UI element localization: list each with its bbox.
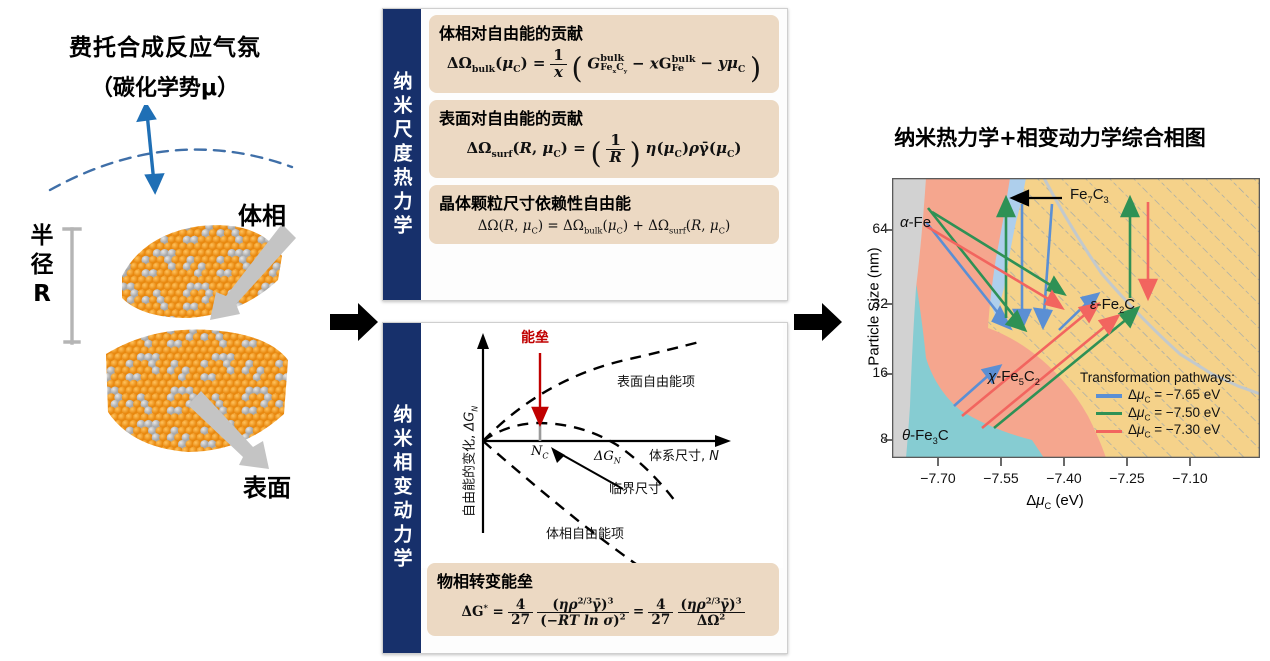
- size-dependent-free-energy-equation: ΔΩ(R, μC) = ΔΩbulk(μC) + ΔΩsurf(R, μC): [439, 216, 769, 236]
- phase-diagram-x-axis-label: ΔμC (eV): [890, 492, 1220, 511]
- radius-label: 半 径 R: [20, 222, 64, 309]
- x-tick-5: −7.10: [1162, 470, 1218, 486]
- size-dependent-free-energy-box: 晶体颗粒尺寸依赖性自由能 ΔΩ(R, μC) = ΔΩbulk(μC) + ΔΩ…: [429, 185, 779, 244]
- sketch-x-axis-label: 体系尺寸, N: [649, 445, 719, 464]
- region-label-chi-fe5c2: χ-Fe5C2: [988, 368, 1040, 387]
- x-tick-marks: [892, 458, 1260, 466]
- radius-label-line1: 半: [31, 223, 54, 249]
- legend-label-730: ΔμC = −7.30 eV: [1128, 422, 1220, 440]
- y-tick-marks: [884, 178, 892, 458]
- phase-transition-kinetics-card: 纳米相变动力学: [382, 322, 788, 654]
- legend-label-765: ΔμC = −7.65 eV: [1128, 387, 1220, 405]
- transformation-barrier-equation: ΔG* = 427 (ηρ2/3γ̄)3 (−RT ln σ)2 = 427 (…: [437, 594, 769, 628]
- size-dependent-free-energy-heading: 晶体颗粒尺寸依赖性自由能: [439, 190, 769, 214]
- nanoscale-thermodynamics-card: 纳米尺度热力学 体相对自由能的贡献 ΔΩbulk(μC) = 1x ( Gbul…: [382, 8, 788, 301]
- legend-item-750: ΔμC = −7.50 eV: [1096, 405, 1235, 423]
- flow-arrow-2-icon: [792, 300, 844, 344]
- atmosphere-title-line1: 费托合成反应气氛: [0, 28, 330, 62]
- thermo-sidebar-title: 纳米尺度热力学: [389, 71, 416, 239]
- bulk-contribution-heading: 体相对自由能的贡献: [439, 20, 769, 44]
- region-label-epsilon-fe2c: ε-Fe2C: [1090, 296, 1135, 315]
- phase-diagram-title: 纳米热力学+相变动力学综合相图: [840, 122, 1260, 152]
- bulk-term-label: 体相自由能项: [546, 523, 624, 542]
- kinetics-sidebar-title: 纳米相变动力学: [389, 404, 416, 572]
- x-tick-4: −7.25: [1099, 470, 1155, 486]
- radius-bracket-icon: [62, 226, 82, 346]
- surface-contribution-box: 表面对自由能的贡献 ΔΩsurf(R, μC) = ( 1R ) η(μC)ργ…: [429, 100, 779, 178]
- legend-swatch-750-icon: [1096, 412, 1122, 415]
- phase-diagram-panel: 纳米热力学+相变动力学综合相图 Particle Size (nm) 64 32…: [840, 110, 1270, 550]
- surface-pointer-arrow-icon: [183, 385, 293, 475]
- pathway-legend: Transformation pathways: ΔμC = −7.65 eV …: [1080, 370, 1235, 440]
- radius-label-line3: R: [33, 281, 51, 307]
- bulk-label: 体相: [238, 196, 286, 231]
- region-label-alpha-fe: α-Fe: [900, 214, 931, 231]
- chemical-potential-arc-icon: [46, 105, 296, 195]
- surface-term-label: 表面自由能项: [617, 371, 695, 390]
- legend-swatch-730-icon: [1096, 430, 1122, 433]
- legend-swatch-765-icon: [1096, 394, 1122, 397]
- surface-contribution-heading: 表面对自由能的贡献: [439, 105, 769, 129]
- surface-label: 表面: [243, 468, 291, 503]
- atmosphere-title-line2: （碳化学势μ）: [0, 70, 330, 102]
- region-label-theta-fe3c: θ-Fe3C: [902, 427, 949, 446]
- bulk-contribution-box: 体相对自由能的贡献 ΔΩbulk(μC) = 1x ( GbulkFexCy −…: [429, 15, 779, 93]
- kinetics-sidebar: 纳米相变动力学: [383, 323, 421, 653]
- energy-barrier-label: 能垒: [521, 327, 549, 347]
- x-tick-3: −7.40: [1036, 470, 1092, 486]
- bulk-pointer-arrow-icon: [196, 222, 306, 332]
- legend-label-750: ΔμC = −7.50 eV: [1128, 405, 1220, 423]
- critical-size-pointer-icon: [545, 445, 627, 493]
- x-tick-1: −7.70: [910, 470, 966, 486]
- flow-arrow-1-icon: [328, 300, 380, 344]
- legend-item-765: ΔμC = −7.65 eV: [1096, 387, 1235, 405]
- legend-item-730: ΔμC = −7.30 eV: [1096, 422, 1235, 440]
- x-tick-2: −7.55: [973, 470, 1029, 486]
- nucleation-free-energy-sketch: 能垒 自由能的变化, ΔGN 体系尺寸, N 表面自由能项 体相自由能项 NC …: [421, 323, 783, 568]
- transformation-barrier-heading: 物相转变能垒: [437, 568, 769, 592]
- sketch-y-axis-label: 自由能的变化, ΔGN: [459, 371, 480, 551]
- thermo-sidebar: 纳米尺度热力学: [383, 9, 421, 300]
- legend-title: Transformation pathways:: [1080, 370, 1235, 385]
- region-label-fe7c3: Fe7C3: [1070, 186, 1109, 205]
- surface-contribution-equation: ΔΩsurf(R, μC) = ( 1R ) η(μC)ργ̄(μC): [439, 131, 769, 170]
- bulk-contribution-equation: ΔΩbulk(μC) = 1x ( GbulkFexCy − xGbulkFe …: [439, 46, 769, 85]
- radius-label-line2: 径: [31, 252, 54, 278]
- transformation-barrier-box: 物相转变能垒 ΔG* = 427 (ηρ2/3γ̄)3 (−RT ln σ)2 …: [427, 563, 779, 636]
- reaction-atmosphere-panel: 费托合成反应气氛 （碳化学势μ） 半 径 R: [0, 0, 330, 661]
